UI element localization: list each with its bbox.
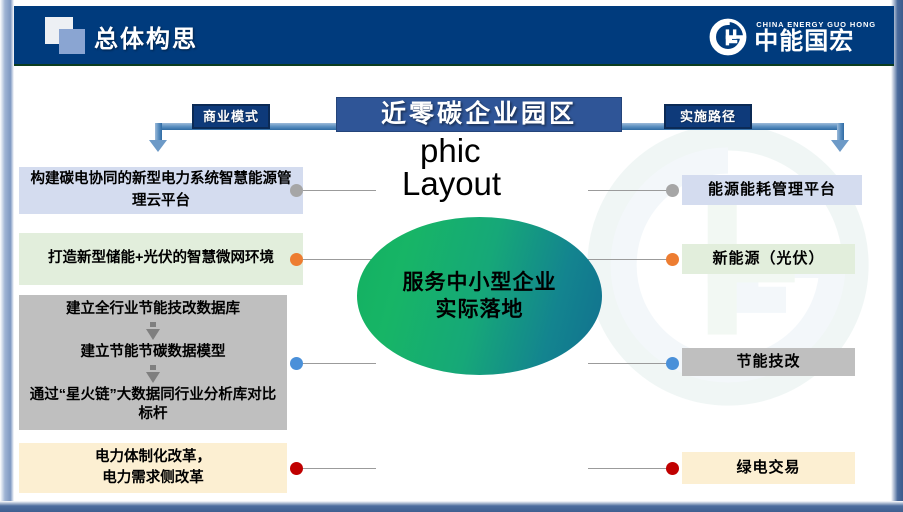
left-box-4-label-line1: 电力体制化改革， [87,447,219,468]
company-logo-text: CHINA ENERGY GUO HONG 中能国宏 [754,20,876,54]
stray-text-layout: Layout [402,167,501,200]
left-box-3-step-2: 建立节能节碳数据模型 [81,343,226,363]
badge-implementation-path[interactable]: 实施路径 [664,104,752,129]
flow-arrow-1-icon [146,321,160,342]
flow-arrow-2-icon [146,364,160,385]
diagram-main-title: 近零碳企业园区 [336,97,622,132]
right-bracket-vertical [837,123,844,141]
right-box-2[interactable]: 新能源（光伏） [682,244,855,274]
slide-header: 总体构思 CHINA ENERGY GUO HONG 中能国宏 [14,6,894,66]
left-box-1[interactable]: 构建碳电协同的新型电力系统智慧能源管理云平台 [19,167,303,214]
page-title: 总体构思 [94,19,198,54]
center-ellipse-label: 服务中小型企业 实际落地 [403,269,557,324]
right-dot-3 [666,357,679,370]
left-box-4-label-line2: 电力需求侧改革 [94,468,212,489]
badge-business-model[interactable]: 商业模式 [192,104,270,129]
left-box-1-label: 构建碳电协同的新型电力系统智慧能源管理云平台 [27,169,295,211]
connector-right-2 [588,259,672,260]
left-dot-1 [290,184,303,197]
right-box-4[interactable]: 绿电交易 [682,452,855,484]
left-bracket-vertical [155,123,162,141]
connector-right-3 [588,363,672,364]
right-box-2-label: 新能源（光伏） [712,248,824,270]
company-logo-chinese: 中能国宏 [754,30,876,54]
frame-right-edge [891,0,903,512]
left-box-3-flow: 建立全行业节能技改数据库 建立节能节碳数据模型 通过“星火链”大数据同行业分析库… [19,300,287,424]
center-ellipse-line1: 服务中小型企业 [403,269,557,296]
stray-text-phic: phic [420,134,481,167]
left-dot-2 [290,253,303,266]
left-box-4[interactable]: 电力体制化改革， 电力需求侧改革 [19,443,287,493]
company-logo-mark-icon [709,18,747,56]
left-box-3[interactable]: 建立全行业节能技改数据库 建立节能节碳数据模型 通过“星火链”大数据同行业分析库… [19,295,287,430]
right-bracket-arrow-icon [831,140,849,152]
company-logo: CHINA ENERGY GUO HONG 中能国宏 [709,18,876,56]
left-dot-3 [290,357,303,370]
connector-right-1 [588,190,672,191]
right-dot-4 [666,462,679,475]
right-box-1-label: 能源能耗管理平台 [708,179,836,201]
left-dot-4 [290,462,303,475]
connector-right-4 [588,468,672,469]
center-ellipse-line2: 实际落地 [403,296,557,323]
connector-left-3 [296,363,376,364]
left-box-2-label: 打造新型储能+光伏的智慧微网环境 [48,248,274,269]
right-box-1[interactable]: 能源能耗管理平台 [682,175,862,205]
right-dot-2 [666,253,679,266]
connector-left-2 [296,259,376,260]
right-box-3[interactable]: 节能技改 [682,348,855,376]
right-box-3-label: 节能技改 [736,351,800,373]
left-box-3-step-1: 建立全行业节能技改数据库 [66,300,240,320]
center-ellipse[interactable]: 服务中小型企业 实际落地 [357,217,602,375]
frame-left-edge [0,0,14,512]
right-box-4-label: 绿电交易 [736,457,800,479]
left-box-3-step-3: 通过“星火链”大数据同行业分析库对比标杆 [19,386,287,425]
header-square-blue-icon [59,29,85,54]
right-dot-1 [666,184,679,197]
connector-left-4 [296,468,376,469]
slide-canvas: 总体构思 CHINA ENERGY GUO HONG 中能国宏 商业模式 实施 [0,0,903,512]
connector-left-1 [296,190,376,191]
frame-bottom-edge [0,501,903,512]
left-bracket-arrow-icon [149,140,167,152]
left-box-2[interactable]: 打造新型储能+光伏的智慧微网环境 [19,233,303,285]
